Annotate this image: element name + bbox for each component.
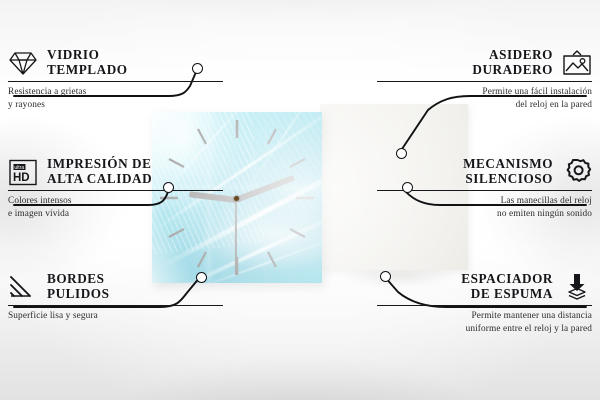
feature-title: MECANISMO SILENCIOSO <box>463 157 553 187</box>
feature-title-line2: DE ESPUMA <box>471 286 553 301</box>
feature-divider <box>8 81 223 82</box>
feature-title-line1: MECANISMO <box>463 156 553 171</box>
feature-desc-line2: y rayones <box>8 100 45 110</box>
feature-title-line2: ALTA CALIDAD <box>47 171 152 186</box>
connector-ring-vidrio <box>192 63 203 74</box>
feature-title: VIDRIO TEMPLADO <box>47 48 128 78</box>
feature-description: Permite mantener una distancia uniforme … <box>377 310 592 335</box>
gear-icon <box>562 157 592 187</box>
feature-header: ultra HD IMPRESIÓN DE ALTA CALIDAD <box>8 157 223 187</box>
connector-ring-impresion <box>163 182 174 193</box>
feature-header: BORDES PULIDOS <box>8 272 223 302</box>
feature-title-line1: VIDRIO <box>47 47 99 62</box>
connector-ring-mecanismo <box>402 182 413 193</box>
feature-divider <box>377 305 592 306</box>
feature-title-line2: PULIDOS <box>47 286 109 301</box>
second-hand <box>235 199 237 275</box>
feature-title-line1: BORDES <box>47 271 105 286</box>
feature-espaciador-de-espuma: ESPACIADOR DE ESPUMA Permite mantener un… <box>377 272 592 335</box>
feature-bordes-pulidos: BORDES PULIDOS Superficie lisa y segura <box>8 272 223 323</box>
feature-asidero-duradero: ASIDERO DURADERO Permite una fácil insta… <box>377 48 592 111</box>
feature-desc-line2: e imagen vívida <box>8 209 69 219</box>
diamond-icon <box>8 48 38 78</box>
feature-header: ESPACIADOR DE ESPUMA <box>377 272 592 302</box>
feature-desc-line1: Permite mantener una distancia <box>471 311 592 321</box>
feature-desc-line1: Superficie lisa y segura <box>8 311 98 321</box>
feature-title: BORDES PULIDOS <box>47 272 109 302</box>
feature-header: VIDRIO TEMPLADO <box>8 48 223 78</box>
feature-description: Colores intensos e imagen vívida <box>8 195 223 220</box>
feature-description: Resistencia a grietas y rayones <box>8 86 223 111</box>
svg-text:HD: HD <box>13 172 30 184</box>
feature-desc-line2: uniforme entre el reloj y la pared <box>466 324 592 334</box>
clock-hands-center <box>234 196 239 201</box>
feature-description: Las manecillas del reloj no emiten ningú… <box>377 195 592 220</box>
feature-desc-line1: Colores intensos <box>8 196 72 206</box>
feature-desc-line1: Resistencia a grietas <box>8 87 86 97</box>
feature-title-line2: SILENCIOSO <box>465 171 553 186</box>
feature-title-line1: ESPACIADOR <box>461 271 553 286</box>
feature-title: IMPRESIÓN DE ALTA CALIDAD <box>47 157 152 187</box>
feature-divider <box>8 190 223 191</box>
connector-ring-bordes <box>196 272 207 283</box>
wall-hanger-frame-icon <box>562 48 592 78</box>
polished-edges-icon <box>8 272 38 302</box>
svg-text:ultra: ultra <box>14 165 24 171</box>
feature-title-line1: IMPRESIÓN DE <box>47 156 151 171</box>
feature-vidrio-templado: VIDRIO TEMPLADO Resistencia a grietas y … <box>8 48 223 111</box>
ultra-hd-icon: ultra HD <box>8 157 38 187</box>
feature-desc-line2: del reloj en la pared <box>516 100 592 110</box>
feature-title: ESPACIADOR DE ESPUMA <box>461 272 553 302</box>
feature-title: ASIDERO DURADERO <box>472 48 553 78</box>
arrow-down-layers-icon <box>562 272 592 302</box>
feature-divider <box>377 81 592 82</box>
feature-divider <box>8 305 223 306</box>
infographic-canvas: VIDRIO TEMPLADO Resistencia a grietas y … <box>0 0 600 400</box>
feature-desc-line1: Permite una fácil instalación <box>482 87 592 97</box>
feature-title-line1: ASIDERO <box>489 47 553 62</box>
feature-header: ASIDERO DURADERO <box>377 48 592 78</box>
feature-title-line2: DURADERO <box>472 62 553 77</box>
connector-ring-espaciador <box>380 271 391 282</box>
feature-impresion-alta-calidad: ultra HD IMPRESIÓN DE ALTA CALIDAD Color… <box>8 157 223 220</box>
feature-desc-line2: no emiten ningún sonido <box>497 209 592 219</box>
feature-description: Superficie lisa y segura <box>8 310 223 322</box>
feature-desc-line1: Las manecillas del reloj <box>501 196 592 206</box>
feature-description: Permite una fácil instalación del reloj … <box>377 86 592 111</box>
connector-ring-asidero <box>396 148 407 159</box>
feature-title-line2: TEMPLADO <box>47 62 128 77</box>
